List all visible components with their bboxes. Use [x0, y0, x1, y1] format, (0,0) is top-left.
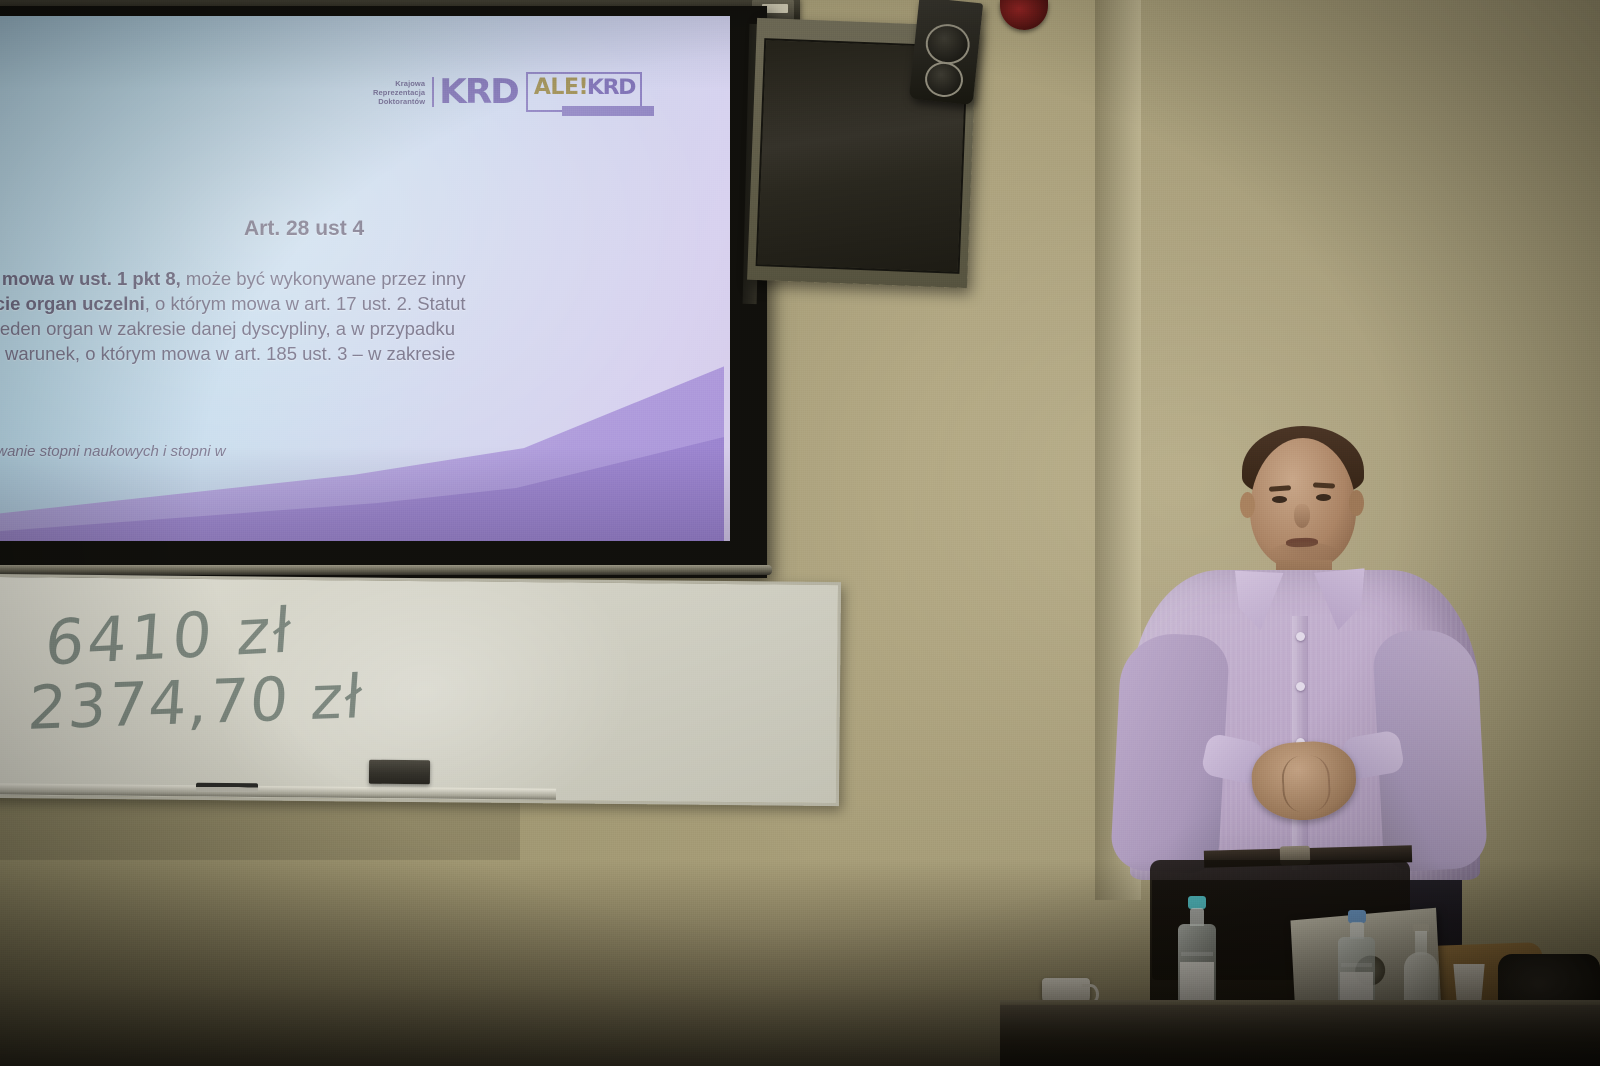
- slide-body-line-5: nej dziedziny.: [0, 366, 690, 391]
- presenter-shirt-button-2: [1296, 682, 1305, 691]
- krd-logo-divider: [432, 77, 434, 107]
- slide-body-line-1-bold: danie, o którym mowa w ust. 1 pkt 8,: [0, 268, 181, 289]
- presenter-eyebrow-right: [1313, 482, 1335, 488]
- speaker-cone-upper: [924, 22, 972, 66]
- room-photo-scene: Krajowa Reprezentacja Doktorantów KRD AL…: [0, 0, 1600, 1066]
- slide-body-line-2-normal: , o którym mowa w art. 17 ust. 2. Statut: [145, 293, 466, 314]
- presenter-ear-right: [1349, 490, 1364, 516]
- slide-body-line-2-bold: reślony w statucie organ uczelni: [0, 293, 145, 314]
- presenter-nose: [1294, 504, 1310, 528]
- presenter-ear-left: [1240, 492, 1255, 518]
- presenter-shirt-button-1: [1296, 632, 1305, 641]
- whiteboard-eraser: [369, 760, 430, 785]
- slide-heading: Art. 28 ust 4: [244, 217, 364, 241]
- slide-body-text: danie, o którym mowa w ust. 1 pkt 8, moż…: [0, 266, 690, 391]
- projection-screen-surface: Krajowa Reprezentacja Doktorantów KRD AL…: [0, 16, 730, 541]
- slide-body-line-3: że określić tylko jeden organ w zakresie…: [0, 316, 690, 341]
- slide-footnote-line-2: resie sztuki;: [0, 464, 512, 488]
- alekrd-logo: ALE! KRD: [526, 72, 642, 112]
- slide-footnote-line-1: 8 ust 1 pkt 8) nadawanie stopni naukowyc…: [0, 440, 512, 464]
- presenter-eye-right: [1316, 494, 1331, 501]
- presenter-eye-left: [1272, 496, 1287, 503]
- slide-body-line-1-normal: może być wykonywane przez inny: [181, 268, 466, 289]
- slide-footnote: 8 ust 1 pkt 8) nadawanie stopni naukowyc…: [0, 440, 512, 488]
- krd-subtitle-line-2: Reprezentacja: [373, 88, 425, 97]
- speaker-cone-lower: [923, 60, 964, 99]
- krd-subtitle-line-1: Krajowa: [373, 79, 425, 88]
- alekrd-underbar: [562, 106, 654, 116]
- slide-body-line-2: reślony w statucie organ uczelni, o któr…: [0, 291, 690, 316]
- room-bottom-shadow: [0, 860, 1600, 1066]
- krd-logo-primary: Krajowa Reprezentacja Doktorantów KRD: [373, 75, 516, 109]
- screen-weight-bar: [0, 565, 772, 575]
- projection-screen-frame: Krajowa Reprezentacja Doktorantów KRD AL…: [0, 6, 767, 578]
- krd-logo: Krajowa Reprezentacja Doktorantów KRD AL…: [373, 72, 642, 112]
- whiteboard-marker: [196, 783, 258, 793]
- alekrd-prefix: ALE!: [534, 75, 588, 100]
- krd-subtitle-line-3: Doktorantów: [373, 97, 425, 106]
- speaker: [909, 0, 983, 105]
- whiteboard-handwriting-line-2: 2374,70 zł: [26, 662, 366, 744]
- krd-logo-subtitle: Krajowa Reprezentacja Doktorantów: [373, 79, 425, 106]
- slide-body-line-4: zelni spełniającej warunek, o którym mow…: [0, 341, 690, 366]
- slide-body-line-1: danie, o którym mowa w ust. 1 pkt 8, moż…: [0, 266, 690, 291]
- alekrd-mark: KRD: [587, 75, 635, 99]
- krd-logo-wordmark: KRD: [439, 75, 517, 109]
